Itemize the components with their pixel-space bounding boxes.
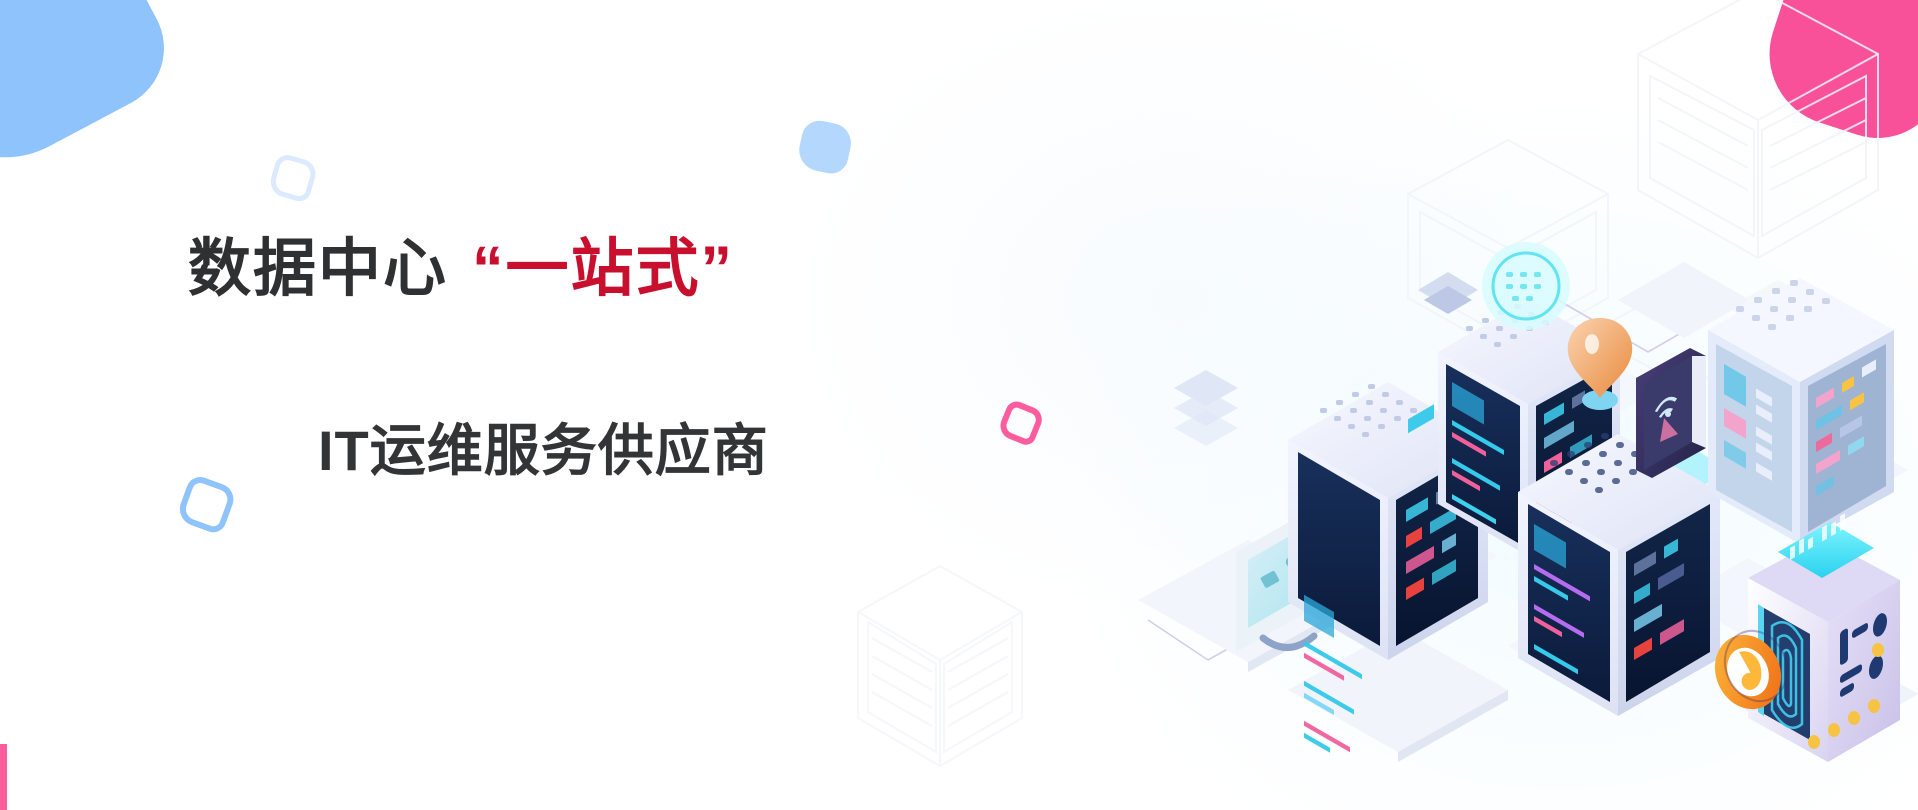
blob-blue-dot-decoration [795,117,854,176]
ghost-server-cube-watermark [850,560,1030,775]
hero-headline: 数据中心“一站式” IT运维服务供应商 [188,232,1068,487]
hero-banner: 数据中心“一站式” IT运维服务供应商 [0,0,1918,810]
blob-top-left-decoration [0,0,186,191]
headline-primary-text: 数据中心 [188,234,448,304]
cloud-shield-badge [1482,242,1570,330]
server-rack-tall-right [1708,278,1894,544]
bar-pink-bottom-decoration [0,744,7,810]
headline-accent-text: “一站式” [472,234,734,304]
ring-blue-top-decoration [267,152,319,204]
headline-line-1: 数据中心“一站式” [188,232,1068,306]
headline-line-2: IT运维服务供应商 [318,406,1068,487]
server-rack-front-right [1518,433,1720,716]
data-center-illustration [1088,0,1918,810]
